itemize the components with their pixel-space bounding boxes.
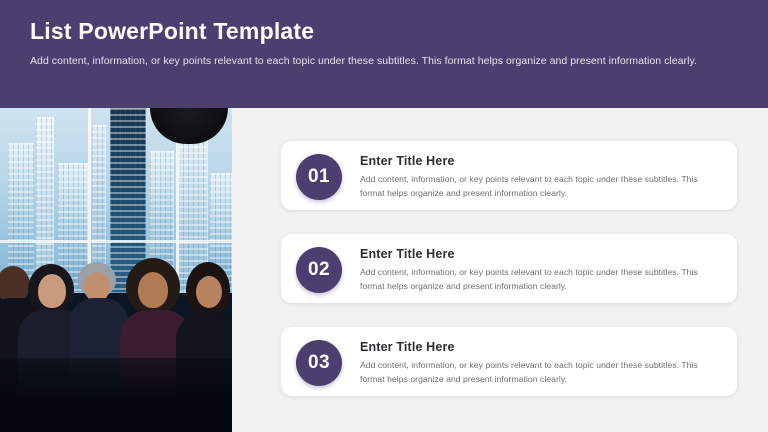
list-item-body: Add content, information, or key points …	[360, 266, 721, 294]
list-item-title: Enter Title Here	[360, 340, 721, 355]
page-subtitle: Add content, information, or key points …	[30, 53, 730, 69]
floor-shadow	[0, 358, 232, 432]
person-face	[38, 274, 66, 308]
step-number-badge: 01	[296, 154, 342, 200]
slide: List PowerPoint Template Add content, in…	[0, 0, 768, 432]
list-item-content: Enter Title Here Add content, informatio…	[342, 153, 721, 201]
list-item-title: Enter Title Here	[360, 247, 721, 262]
slide-header: List PowerPoint Template Add content, in…	[0, 0, 768, 108]
team-meeting-photo	[0, 108, 232, 432]
list-item-content: Enter Title Here Add content, informatio…	[342, 339, 721, 387]
person-face	[138, 272, 168, 308]
list-item-content: Enter Title Here Add content, informatio…	[342, 246, 721, 294]
list-item[interactable]: 03 Enter Title Here Add content, informa…	[281, 327, 737, 396]
list-item[interactable]: 02 Enter Title Here Add content, informa…	[281, 234, 737, 303]
content-panel: 01 Enter Title Here Add content, informa…	[232, 108, 768, 432]
list-item-body: Add content, information, or key points …	[360, 173, 721, 201]
list-item[interactable]: 01 Enter Title Here Add content, informa…	[281, 141, 737, 210]
page-title: List PowerPoint Template	[30, 18, 738, 44]
window-rail	[0, 240, 232, 243]
list-card-group: 01 Enter Title Here Add content, informa…	[281, 141, 737, 420]
person-face	[196, 276, 222, 308]
pendant-lamp-icon	[150, 108, 228, 144]
step-number-badge: 02	[296, 247, 342, 293]
step-number-badge: 03	[296, 340, 342, 386]
list-item-body: Add content, information, or key points …	[360, 359, 721, 387]
list-item-title: Enter Title Here	[360, 154, 721, 169]
